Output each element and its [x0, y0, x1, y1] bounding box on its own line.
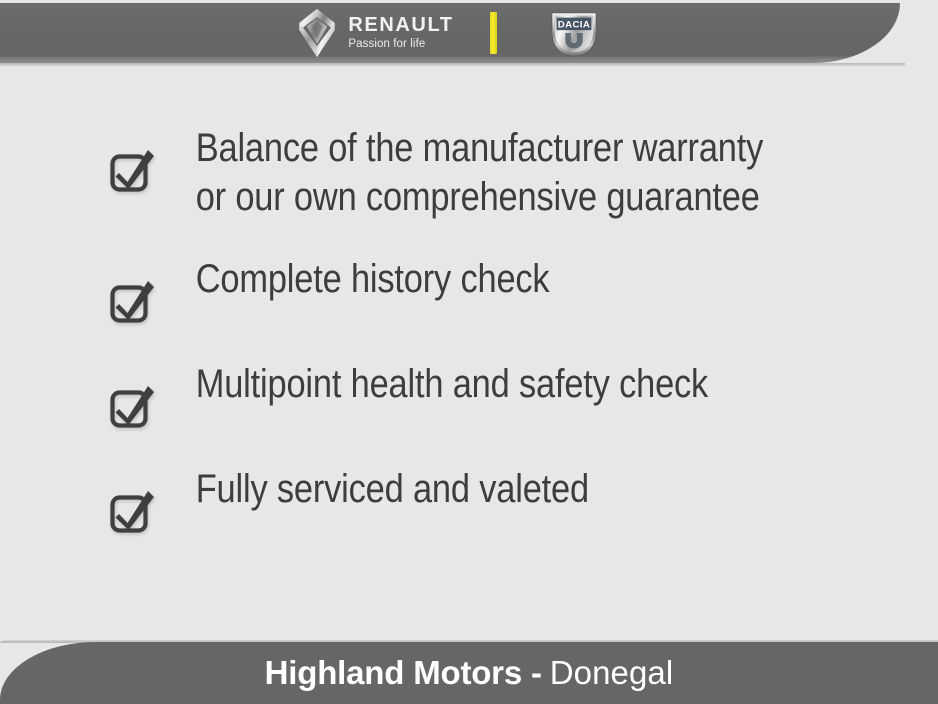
dacia-brand-name: DACIA — [557, 20, 589, 31]
benefits-list: Balance of the manufacturer warranty or … — [0, 124, 938, 537]
renault-brand-name: RENAULT — [348, 15, 453, 35]
header-underline — [0, 63, 905, 66]
footer-bar: Highland Motors - Donegal — [0, 632, 938, 704]
checkbox-cell — [0, 255, 108, 327]
dacia-logo-lockup: DACIA — [543, 6, 605, 60]
list-item-label: Complete history check — [108, 255, 822, 304]
checkbox-cell — [0, 465, 108, 537]
list-item: Fully serviced and valeted — [0, 465, 938, 537]
list-item: Balance of the manufacturer warranty or … — [0, 124, 938, 222]
dealer-name: Highland Motors — [265, 654, 522, 692]
list-item-label: Fully serviced and valeted — [108, 465, 822, 514]
dealer-separator: - — [531, 654, 542, 692]
renault-tagline: Passion for life — [348, 39, 453, 51]
brand-divider — [490, 12, 497, 54]
dealer-location: Donegal — [550, 654, 674, 692]
checkbox-cell — [0, 124, 108, 196]
list-item: Complete history check — [0, 255, 938, 327]
renault-logo-lockup: RENAULT Passion for life — [295, 7, 453, 59]
list-item: Multipoint health and safety check — [0, 360, 938, 432]
list-item-label: Balance of the manufacturer warranty or … — [108, 124, 822, 222]
list-item-label: Multipoint health and safety check — [108, 360, 822, 409]
checkbox-cell — [0, 360, 108, 432]
header-bar: RENAULT Passion for life — [0, 0, 938, 72]
dealer-banner: Highland Motors - Donegal — [0, 642, 938, 704]
brand-logo-row: RENAULT Passion for life — [0, 3, 900, 63]
dacia-shield-icon: DACIA — [543, 6, 605, 60]
promo-slide: RENAULT Passion for life — [0, 0, 938, 704]
renault-wordmark: RENAULT Passion for life — [348, 15, 453, 51]
renault-diamond-icon — [295, 7, 339, 59]
